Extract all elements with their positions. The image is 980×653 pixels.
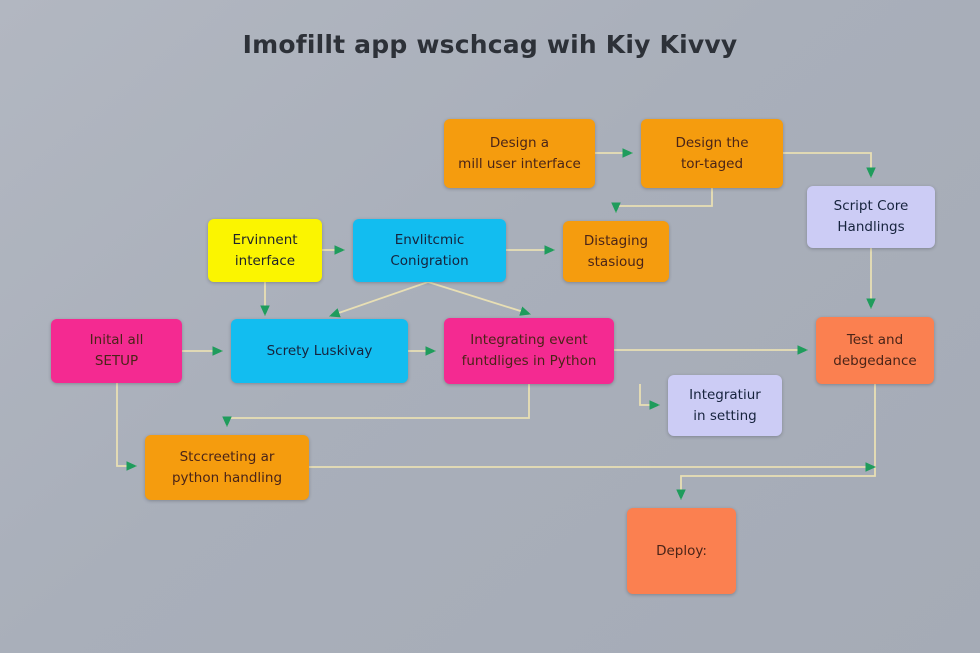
node-screty[interactable]: Screty Luskivay xyxy=(231,319,408,383)
node-label-line: Inital all xyxy=(90,330,144,351)
node-test-debug[interactable]: Test anddebgedance xyxy=(816,317,934,384)
node-label-line: Deploy: xyxy=(656,541,707,562)
node-distaging[interactable]: Distagingstasioug xyxy=(563,221,669,282)
node-label-line: Script Core xyxy=(834,196,909,217)
edge-design-tortaged-to-script-core xyxy=(783,153,871,177)
node-envlitcmic[interactable]: EnvlitcmicConigration xyxy=(353,219,506,282)
node-python-handling[interactable]: Stccreeting arpython handling xyxy=(145,435,309,500)
node-label-line: Envlitcmic xyxy=(395,230,465,251)
node-label-line: tor-taged xyxy=(681,154,743,175)
edge-inital-setup-to-python-handling xyxy=(117,383,136,466)
node-ervinnent[interactable]: Ervinnentinterface xyxy=(208,219,322,282)
node-design-tortaged[interactable]: Design thetor-taged xyxy=(641,119,783,188)
node-label-line: Integratiur xyxy=(689,385,761,406)
edge-envlitcmic-to-screty xyxy=(330,282,428,316)
node-integratiur[interactable]: Integratiurin setting xyxy=(668,375,782,436)
node-label-line: stasioug xyxy=(588,252,645,273)
node-label-line: debgedance xyxy=(833,351,916,372)
page-title: Imofillt app wschcag wih Kiy Kivvy xyxy=(0,30,980,59)
node-inital-setup[interactable]: Inital allSETUP xyxy=(51,319,182,383)
edge-envlitcmic-to-integrating xyxy=(428,282,530,314)
flowchart-canvas: Imofillt app wschcag wih Kiy Kivvy Desig… xyxy=(0,0,980,653)
node-label-line: SETUP xyxy=(95,351,138,372)
node-label-line: Ervinnent xyxy=(232,230,297,251)
edge-integrating-to-python-handling xyxy=(227,384,529,426)
node-label-line: mill user interface xyxy=(458,154,581,175)
node-label-line: interface xyxy=(235,251,295,272)
node-deploy[interactable]: Deploy: xyxy=(627,508,736,594)
node-label-line: Screty Luskivay xyxy=(267,341,373,362)
node-label-line: Conigration xyxy=(390,251,468,272)
edge-integrating-to-integratiur xyxy=(640,384,659,405)
node-label-line: funtdliges in Python xyxy=(462,351,597,372)
node-label-line: Handlings xyxy=(837,217,904,238)
node-integrating[interactable]: Integrating eventfuntdliges in Python xyxy=(444,318,614,384)
node-label-line: Integrating event xyxy=(470,330,587,351)
edge-design-tortaged-to-distaging xyxy=(616,188,712,212)
node-label-line: Distaging xyxy=(584,231,648,252)
node-script-core[interactable]: Script CoreHandlings xyxy=(807,186,935,248)
node-label-line: in setting xyxy=(693,406,756,427)
node-design-ui[interactable]: Design amill user interface xyxy=(444,119,595,188)
node-label-line: python handling xyxy=(172,468,282,489)
node-label-line: Design a xyxy=(490,133,549,154)
node-label-line: Stccreeting ar xyxy=(180,447,275,468)
node-label-line: Design the xyxy=(675,133,748,154)
node-label-line: Test and xyxy=(847,330,903,351)
